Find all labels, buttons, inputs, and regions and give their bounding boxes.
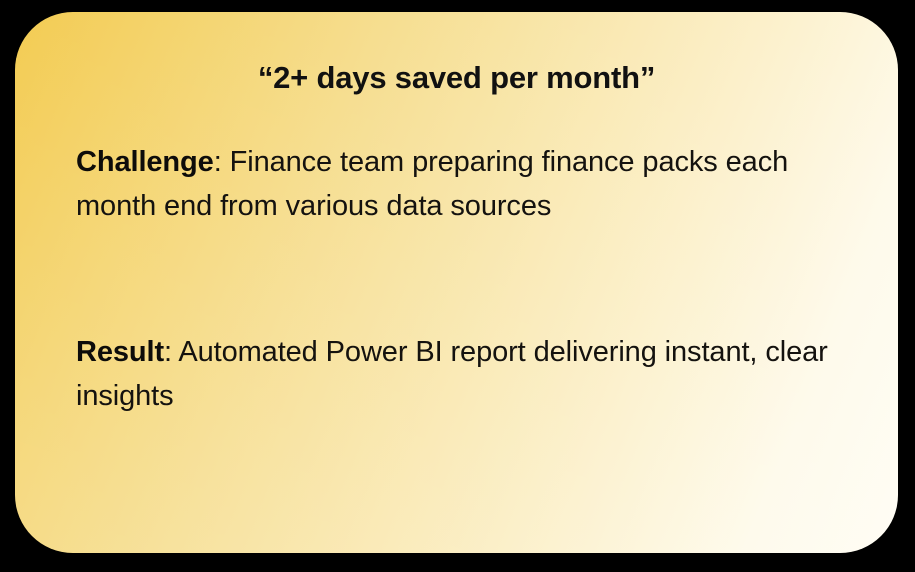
testimonial-card: “2+ days saved per month” Challenge: Fin…	[15, 12, 898, 553]
card-content: “2+ days saved per month” Challenge: Fin…	[15, 12, 898, 553]
result-text: Automated Power BI report delivering ins…	[76, 336, 828, 412]
result-separator: :	[164, 336, 178, 368]
result-block: Result: Automated Power BI report delive…	[76, 330, 856, 418]
result-label: Result	[76, 336, 164, 368]
screenshot-canvas: “2+ days saved per month” Challenge: Fin…	[0, 0, 915, 572]
challenge-separator: :	[214, 146, 230, 178]
challenge-label: Challenge	[76, 146, 214, 178]
card-headline: “2+ days saved per month”	[15, 60, 898, 96]
challenge-block: Challenge: Finance team preparing financ…	[76, 140, 856, 228]
